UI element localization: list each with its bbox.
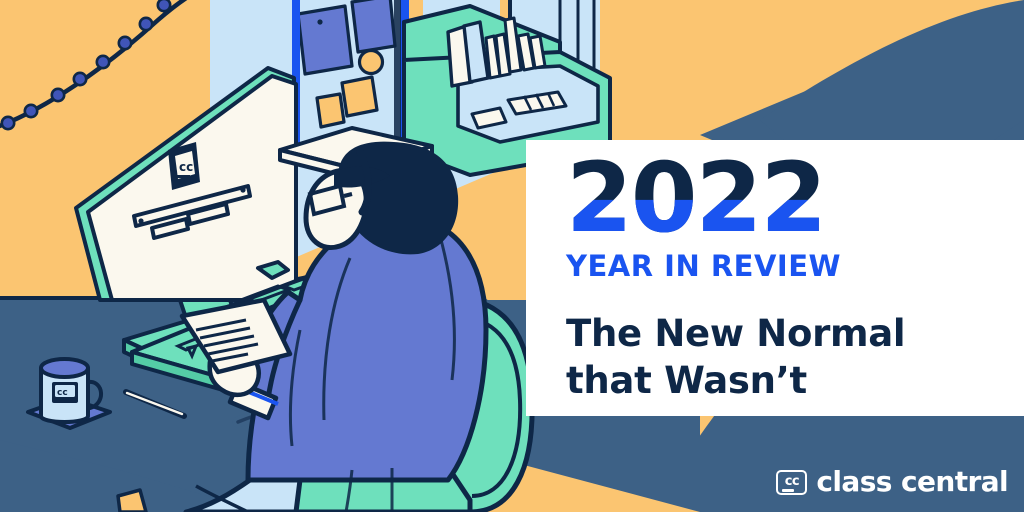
headline-line-1: The New Normal xyxy=(566,310,1004,357)
pinned-badge xyxy=(360,51,383,74)
mug-rim xyxy=(41,359,88,377)
title-card: 2022 2022 YEAR IN REVIEW The New Normal … xyxy=(526,140,1024,416)
class-central-logo[interactable]: cc class central xyxy=(776,468,1008,496)
svg-text:cc: cc xyxy=(57,388,68,398)
headline: The New Normal that Wasn’t xyxy=(566,310,1004,404)
cc-mark-text: cc xyxy=(785,475,799,488)
sticky-note-2 xyxy=(317,94,344,127)
year-display: 2022 2022 xyxy=(566,158,826,248)
floor-patch xyxy=(118,490,146,512)
brand-name: class central xyxy=(816,468,1008,496)
headline-line-2: that Wasn’t xyxy=(566,357,1004,404)
year-in-review-banner: cc xyxy=(0,0,1024,512)
monitor-screen-logo: cc xyxy=(168,142,200,190)
kicker-year-in-review: YEAR IN REVIEW xyxy=(566,250,1004,282)
cc-monitor-icon: cc xyxy=(776,470,807,495)
sticky-note-1 xyxy=(342,77,377,116)
svg-text:cc: cc xyxy=(179,160,193,174)
pinned-photo-1 xyxy=(298,6,352,74)
pinned-photo-2 xyxy=(352,0,395,52)
